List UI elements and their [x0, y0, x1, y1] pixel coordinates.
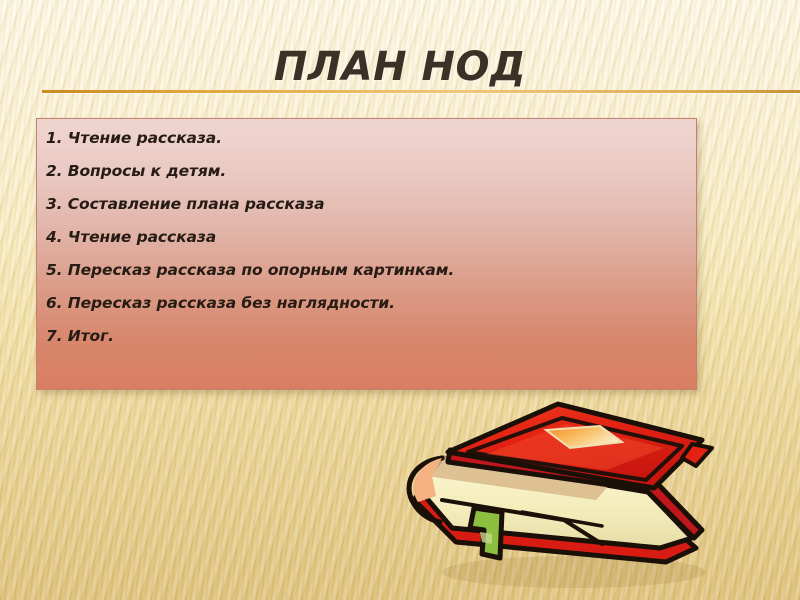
list-item: 5. Пересказ рассказа по опорным картинка… — [46, 260, 696, 293]
list-item: 3. Составление плана рассказа — [46, 194, 696, 227]
slide-canvas: ПЛАН НОД 1. Чтение рассказа. 2. Вопросы … — [0, 0, 800, 600]
list-item: 4. Чтение рассказа — [46, 227, 696, 260]
book-illustration — [396, 396, 736, 600]
list-item: 6. Пересказ рассказа без наглядности. — [46, 293, 696, 326]
list-item: 1. Чтение рассказа. — [46, 128, 696, 161]
plan-content-box: 1. Чтение рассказа. 2. Вопросы к детям. … — [36, 118, 697, 390]
page-title: ПЛАН НОД — [0, 36, 800, 98]
list-item: 2. Вопросы к детям. — [46, 161, 696, 194]
list-item: 7. Итог. — [46, 326, 696, 359]
title-block: ПЛАН НОД — [0, 36, 800, 104]
